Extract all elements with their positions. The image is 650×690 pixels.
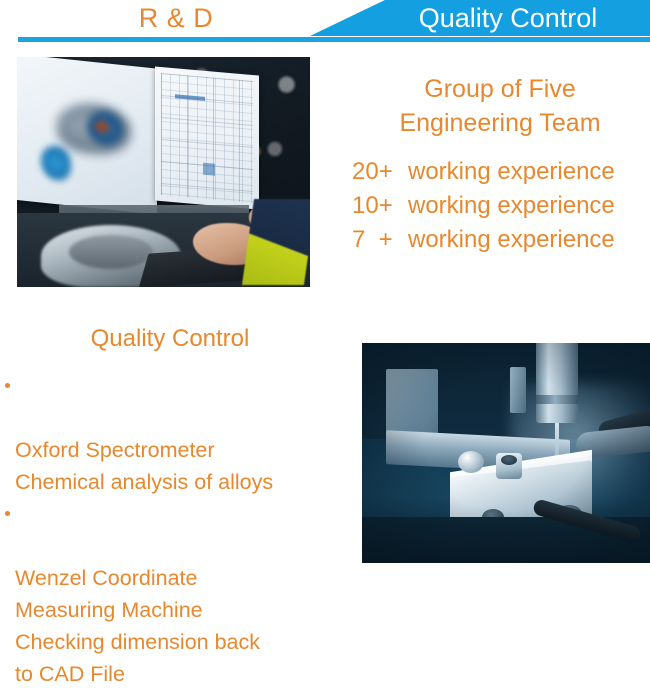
quality-control-heading: Quality Control (10, 324, 330, 354)
list-item-text: Oxford Spectrometer Chemical analysis of… (15, 438, 273, 494)
experience-row: 10+ working experience (352, 189, 650, 223)
experience-label: working experience (408, 189, 615, 223)
blurred-3d-model-accent (41, 144, 71, 181)
cad-drawing-detail (203, 163, 215, 176)
list-item-text: Wenzel Coordinate Measuring Machine Chec… (15, 566, 260, 686)
experience-years: 20+ (352, 155, 408, 189)
experience-label: working experience (408, 223, 615, 257)
operator-sleeve (242, 199, 310, 285)
page-header: R & D Quality Control (0, 0, 650, 44)
header-title-rd: R & D (96, 2, 256, 34)
list-item: Wenzel Coordinate Measuring Machine Chec… (2, 498, 347, 690)
cad-workstation-photo (17, 57, 310, 287)
right-monitor-screen (155, 66, 259, 209)
cmm-machine-photo (362, 343, 650, 563)
experience-list: 20+ working experience 10+ working exper… (352, 155, 650, 257)
metal-ring-bore (69, 235, 153, 269)
header-title-quality-control: Quality Control (380, 1, 636, 35)
engineering-team-heading: Group of Five Engineering Team (352, 72, 648, 140)
left-monitor-screen (17, 57, 157, 215)
bullet-icon (5, 383, 10, 388)
header-underline-rule (18, 37, 650, 42)
experience-row: 20+ working experience (352, 155, 650, 189)
bullet-icon (5, 511, 10, 516)
cmm-vignette (362, 343, 650, 563)
experience-row: 7 + working experience (352, 223, 650, 257)
quality-control-list: Oxford Spectrometer Chemical analysis of… (2, 370, 347, 690)
experience-years: 7 + (352, 223, 408, 257)
list-item: Oxford Spectrometer Chemical analysis of… (2, 370, 347, 498)
experience-years: 10+ (352, 189, 408, 223)
experience-label: working experience (408, 155, 615, 189)
cad-drawing-grid (161, 73, 253, 203)
